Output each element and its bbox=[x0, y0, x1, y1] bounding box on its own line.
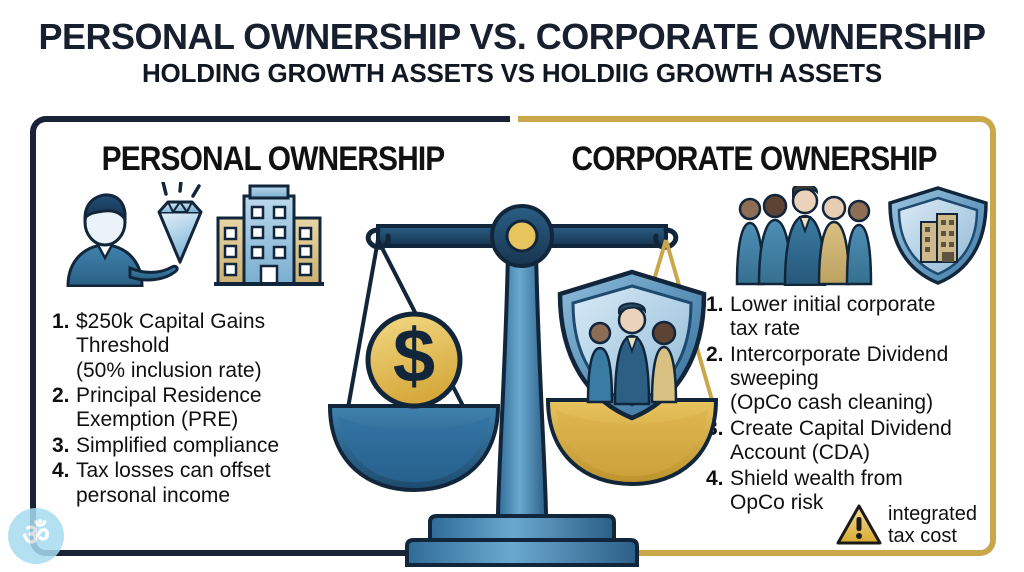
office-building-icon bbox=[214, 182, 324, 287]
list-item-text: Principal Residence Exemption (PRE) bbox=[76, 384, 262, 433]
shield-with-people-icon bbox=[560, 272, 704, 418]
list-item-number: 3. bbox=[52, 434, 76, 458]
personal-ownership-icons bbox=[60, 182, 324, 287]
dollar-coin-symbol: $ bbox=[393, 314, 435, 399]
title-block: PERSONAL OWNERSHIP VS. CORPORATE OWNERSH… bbox=[0, 18, 1024, 87]
shield-with-building-icon bbox=[884, 186, 992, 286]
page-title: PERSONAL OWNERSHIP VS. CORPORATE OWNERSH… bbox=[0, 18, 1024, 56]
list-item: 3. Create Capital Dividend Account (CDA) bbox=[706, 417, 996, 466]
list-item: 1. $250k Capital Gains Threshold (50% in… bbox=[52, 310, 352, 383]
list-item-text: Simplified compliance bbox=[76, 434, 279, 458]
corporate-ownership-list: 1. Lower initial corporate tax rate 2. I… bbox=[706, 293, 996, 516]
corporate-ownership-heading: CORPORATE OWNERSHIP bbox=[546, 140, 961, 179]
site-logo-watermark: ॐ bbox=[8, 508, 64, 564]
watermark-glyph: ॐ bbox=[22, 521, 49, 551]
list-item-text: $250k Capital Gains Threshold (50% inclu… bbox=[76, 310, 265, 383]
balance-scale-illustration: $ bbox=[312, 190, 732, 572]
list-item-text: Lower initial corporate tax rate bbox=[730, 293, 935, 342]
personal-ownership-heading: PERSONAL OWNERSHIP bbox=[64, 140, 481, 179]
corporate-ownership-icons bbox=[730, 186, 992, 286]
person-holding-diamond-icon bbox=[60, 182, 208, 287]
integrated-tax-cost-badge: integrated tax cost bbox=[836, 503, 977, 547]
warning-triangle-icon bbox=[836, 504, 882, 546]
list-item-number: 4. bbox=[52, 459, 76, 508]
list-item-number: 1. bbox=[52, 310, 76, 383]
list-item: 4. Tax losses can offset personal income bbox=[52, 459, 352, 508]
list-item: 2. Intercorporate Dividend sweeping (OpC… bbox=[706, 343, 996, 416]
list-item-number: 2. bbox=[52, 384, 76, 433]
group-of-people-icon bbox=[730, 186, 880, 286]
list-item: 2. Principal Residence Exemption (PRE) bbox=[52, 384, 352, 433]
list-item-text: Tax losses can offset personal income bbox=[76, 459, 271, 508]
integrated-tax-cost-label: integrated tax cost bbox=[888, 503, 977, 547]
list-item: 3. Simplified compliance bbox=[52, 434, 352, 458]
page-subtitle: HOLDING GROWTH ASSETS VS HOLDIIG GROWTH … bbox=[0, 60, 1024, 87]
list-item-text: Intercorporate Dividend sweeping (OpCo c… bbox=[730, 343, 948, 416]
list-item: 1. Lower initial corporate tax rate bbox=[706, 293, 996, 342]
personal-ownership-list: 1. $250k Capital Gains Threshold (50% in… bbox=[52, 310, 352, 509]
list-item-text: Create Capital Dividend Account (CDA) bbox=[730, 417, 952, 466]
